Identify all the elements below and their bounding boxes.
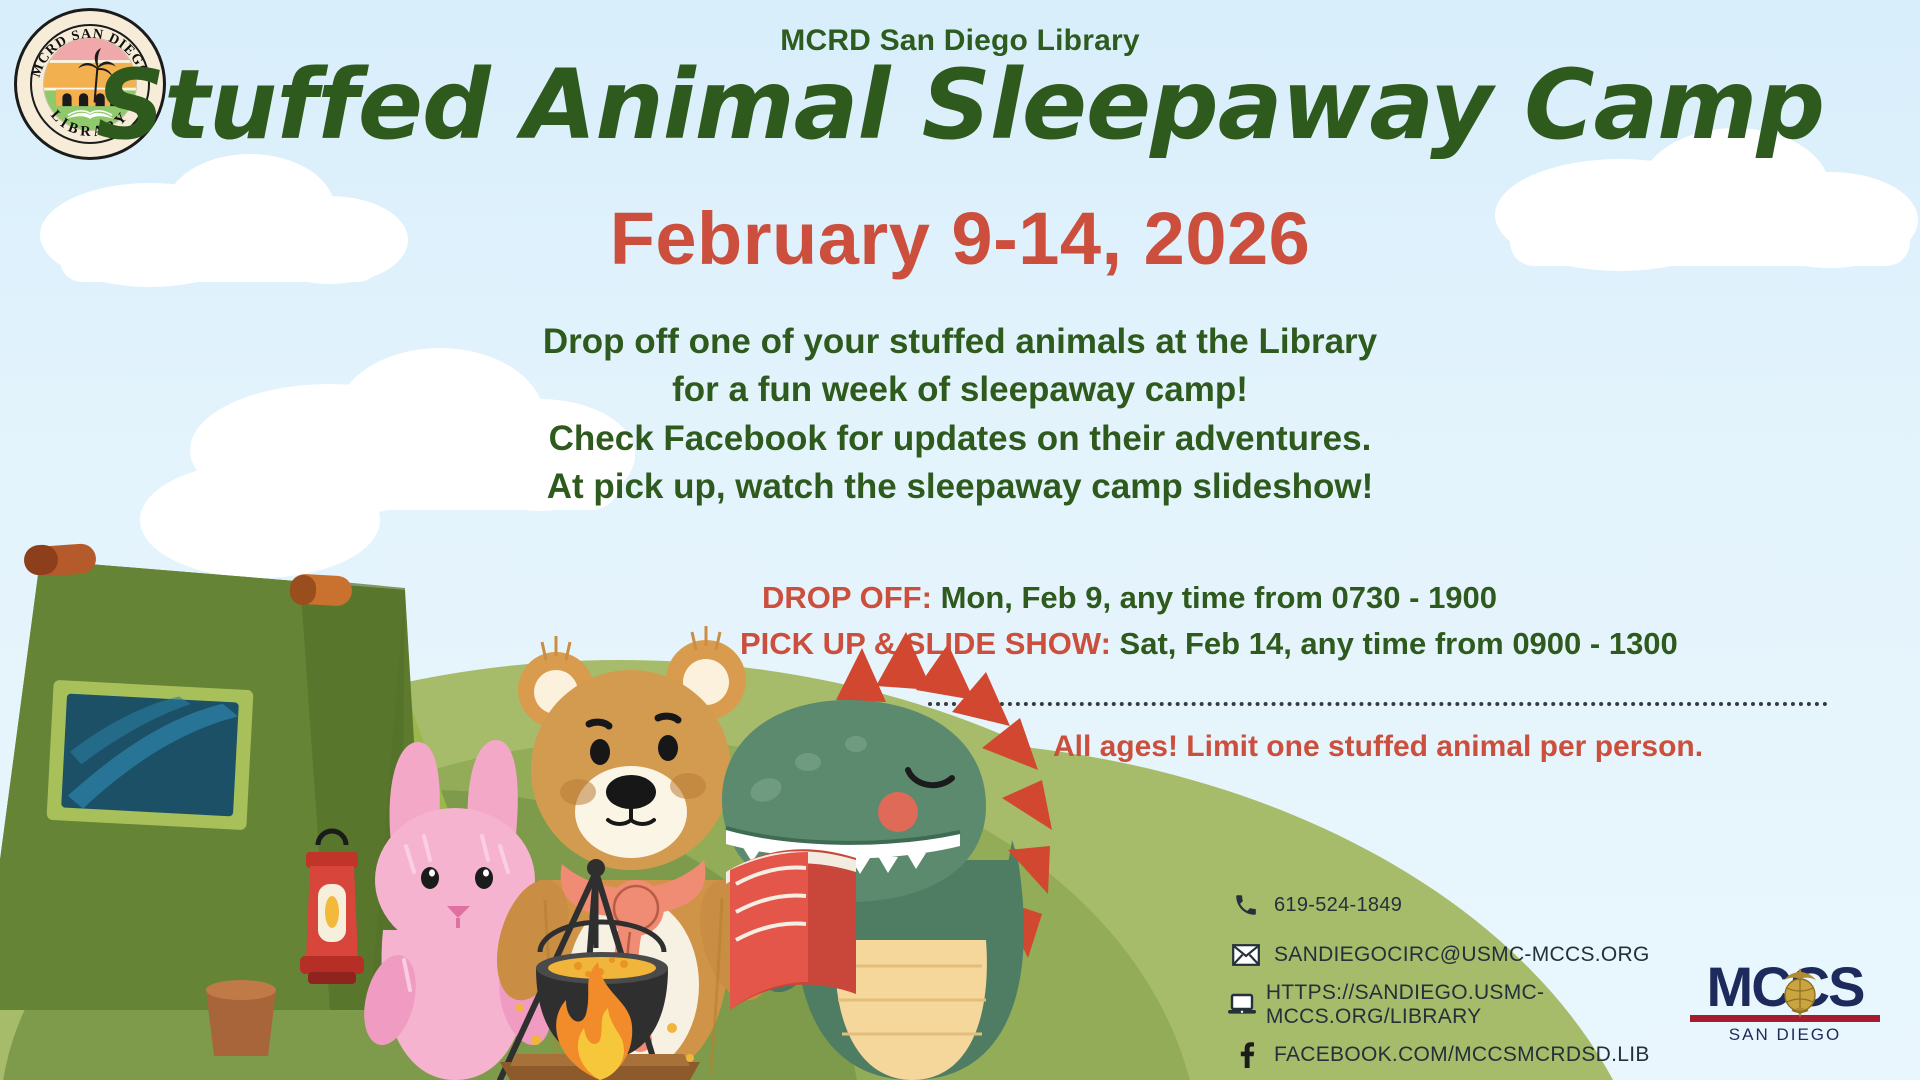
teddy-bear-plush xyxy=(484,626,785,1080)
lantern-icon xyxy=(300,831,364,984)
page-title: Stuffed Animal Sleepaway Camp xyxy=(0,56,1920,156)
phone-number: 619-524-1849 xyxy=(1274,894,1402,917)
facebook-url: FACEBOOK.COM/MCCSMCRDSD.LIB xyxy=(1274,1043,1650,1067)
website-url: HTTPS://SANDIEGO.USMC-MCCS.ORG/LIBRARY xyxy=(1266,981,1688,1029)
event-dates: February 9-14, 2026 xyxy=(0,196,1920,281)
campfire-icon xyxy=(500,859,700,1080)
description-line-2: for a fun week of sleepaway camp! xyxy=(0,366,1920,414)
contact-row-facebook[interactable]: FACEBOOK.COM/MCCSMCRDSD.LIB xyxy=(1218,1030,1688,1080)
schedule-block: DROP OFF: Mon, Feb 9, any time from 0730… xyxy=(740,575,1900,667)
dropoff-label: DROP OFF: xyxy=(762,580,932,615)
dinosaur-plush xyxy=(722,632,1052,1080)
description-line-4: At pick up, watch the sleepaway camp sli… xyxy=(0,463,1920,511)
contact-block: 619-524-1849 SANDIEGOCIRC@USMC-MCCS.ORG xyxy=(1218,880,1688,1080)
dropoff-row: DROP OFF: Mon, Feb 9, any time from 0730… xyxy=(740,575,1900,621)
bunny-plush xyxy=(356,740,560,1080)
poster-canvas: MCRD SAN DIEGO LIBRARY MCRD San Diego Li… xyxy=(0,0,1920,1080)
envelope-icon xyxy=(1218,944,1274,966)
description-line-1: Drop off one of your stuffed animals at … xyxy=(0,318,1920,366)
mccs-wordmark: MCCS xyxy=(1690,960,1880,1013)
pickup-row: PICK UP & SLIDE SHOW: Sat, Feb 14, any t… xyxy=(740,621,1900,667)
eagle-globe-anchor-icon xyxy=(1774,962,1826,1018)
email-address: SANDIEGOCIRC@USMC-MCCS.ORG xyxy=(1274,943,1650,967)
dotted-divider xyxy=(928,702,1828,706)
mccs-logo: MCCS SAN DIEGO xyxy=(1690,960,1880,1045)
facebook-icon xyxy=(1218,1041,1274,1069)
contact-row-phone[interactable]: 619-524-1849 xyxy=(1218,880,1688,930)
pickup-value: Sat, Feb 14, any time from 0900 - 1300 xyxy=(1120,626,1678,661)
pickup-label: PICK UP & SLIDE SHOW: xyxy=(740,626,1111,661)
laptop-icon xyxy=(1218,993,1266,1017)
description-line-3: Check Facebook for updates on their adve… xyxy=(0,415,1920,463)
description-block: Drop off one of your stuffed animals at … xyxy=(0,318,1920,511)
tent-icon xyxy=(0,543,520,1010)
book-icon xyxy=(726,849,856,1010)
age-note: All ages! Limit one stuffed animal per p… xyxy=(928,730,1828,764)
phone-icon xyxy=(1218,892,1274,918)
contact-row-website[interactable]: HTTPS://SANDIEGO.USMC-MCCS.ORG/LIBRARY xyxy=(1218,980,1688,1030)
contact-row-email[interactable]: SANDIEGOCIRC@USMC-MCCS.ORG xyxy=(1218,930,1688,980)
mccs-subtitle: SAN DIEGO xyxy=(1690,1025,1880,1045)
dropoff-value: Mon, Feb 9, any time from 0730 - 1900 xyxy=(941,580,1497,615)
mug-icon xyxy=(206,980,276,1056)
